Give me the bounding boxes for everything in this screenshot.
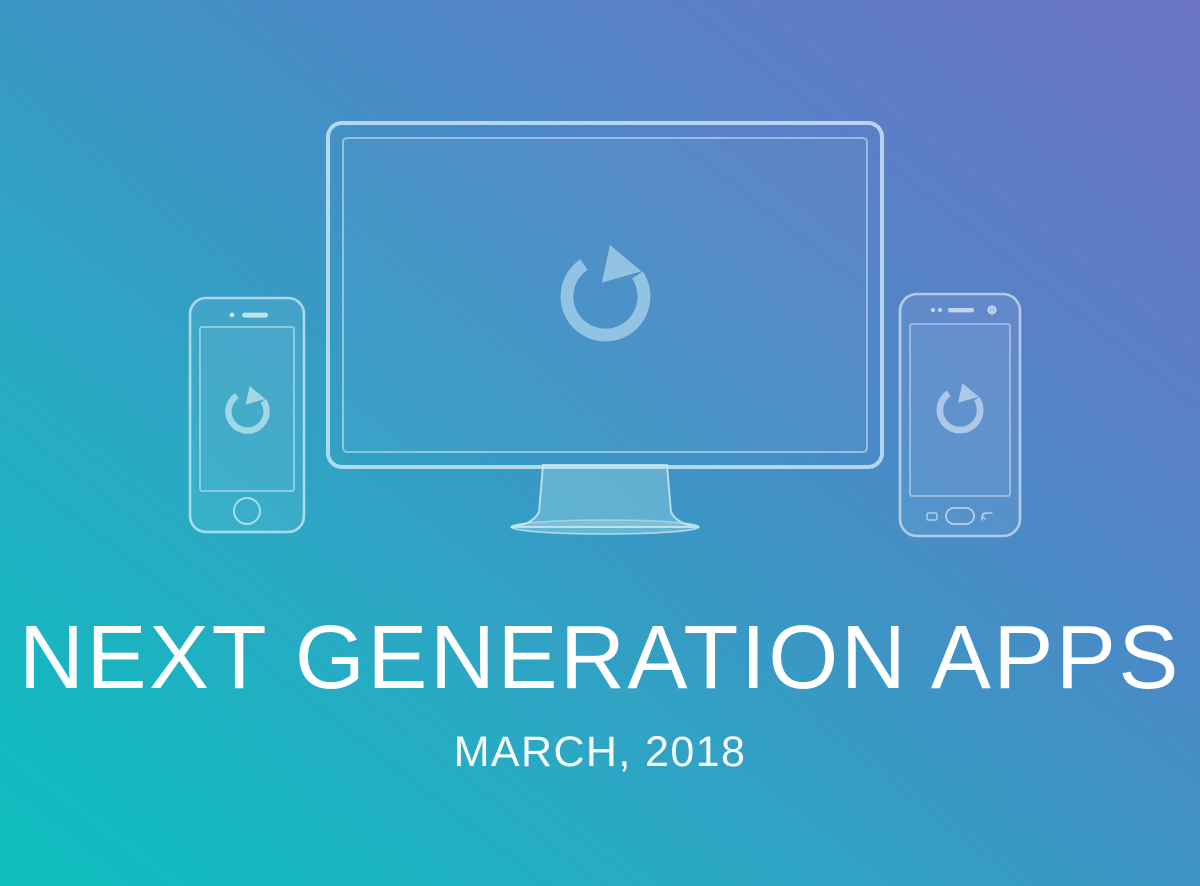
android-camera-circle bbox=[988, 306, 996, 314]
poster-canvas: NEXT GENERATION APPS MARCH, 2018 bbox=[0, 0, 1200, 886]
iphone-device bbox=[188, 296, 306, 534]
device-illustration-group bbox=[0, 0, 1200, 600]
iphone-camera-dot bbox=[230, 313, 235, 318]
iphone-speaker-slot bbox=[242, 313, 268, 318]
caption-block: NEXT GENERATION APPS MARCH, 2018 bbox=[0, 612, 1200, 777]
android-speaker-slot bbox=[948, 308, 974, 312]
iphone-screen bbox=[200, 327, 294, 491]
android-sensor-dot-2 bbox=[938, 308, 942, 312]
android-device bbox=[898, 292, 1022, 538]
page-title: NEXT GENERATION APPS bbox=[0, 612, 1200, 706]
android-screen bbox=[910, 324, 1010, 496]
android-sensor-dot-1 bbox=[931, 308, 935, 312]
monitor-screen bbox=[343, 138, 867, 452]
page-subtitle: MARCH, 2018 bbox=[0, 728, 1200, 777]
desktop-monitor bbox=[325, 120, 885, 535]
monitor-stand-neck bbox=[511, 465, 699, 527]
